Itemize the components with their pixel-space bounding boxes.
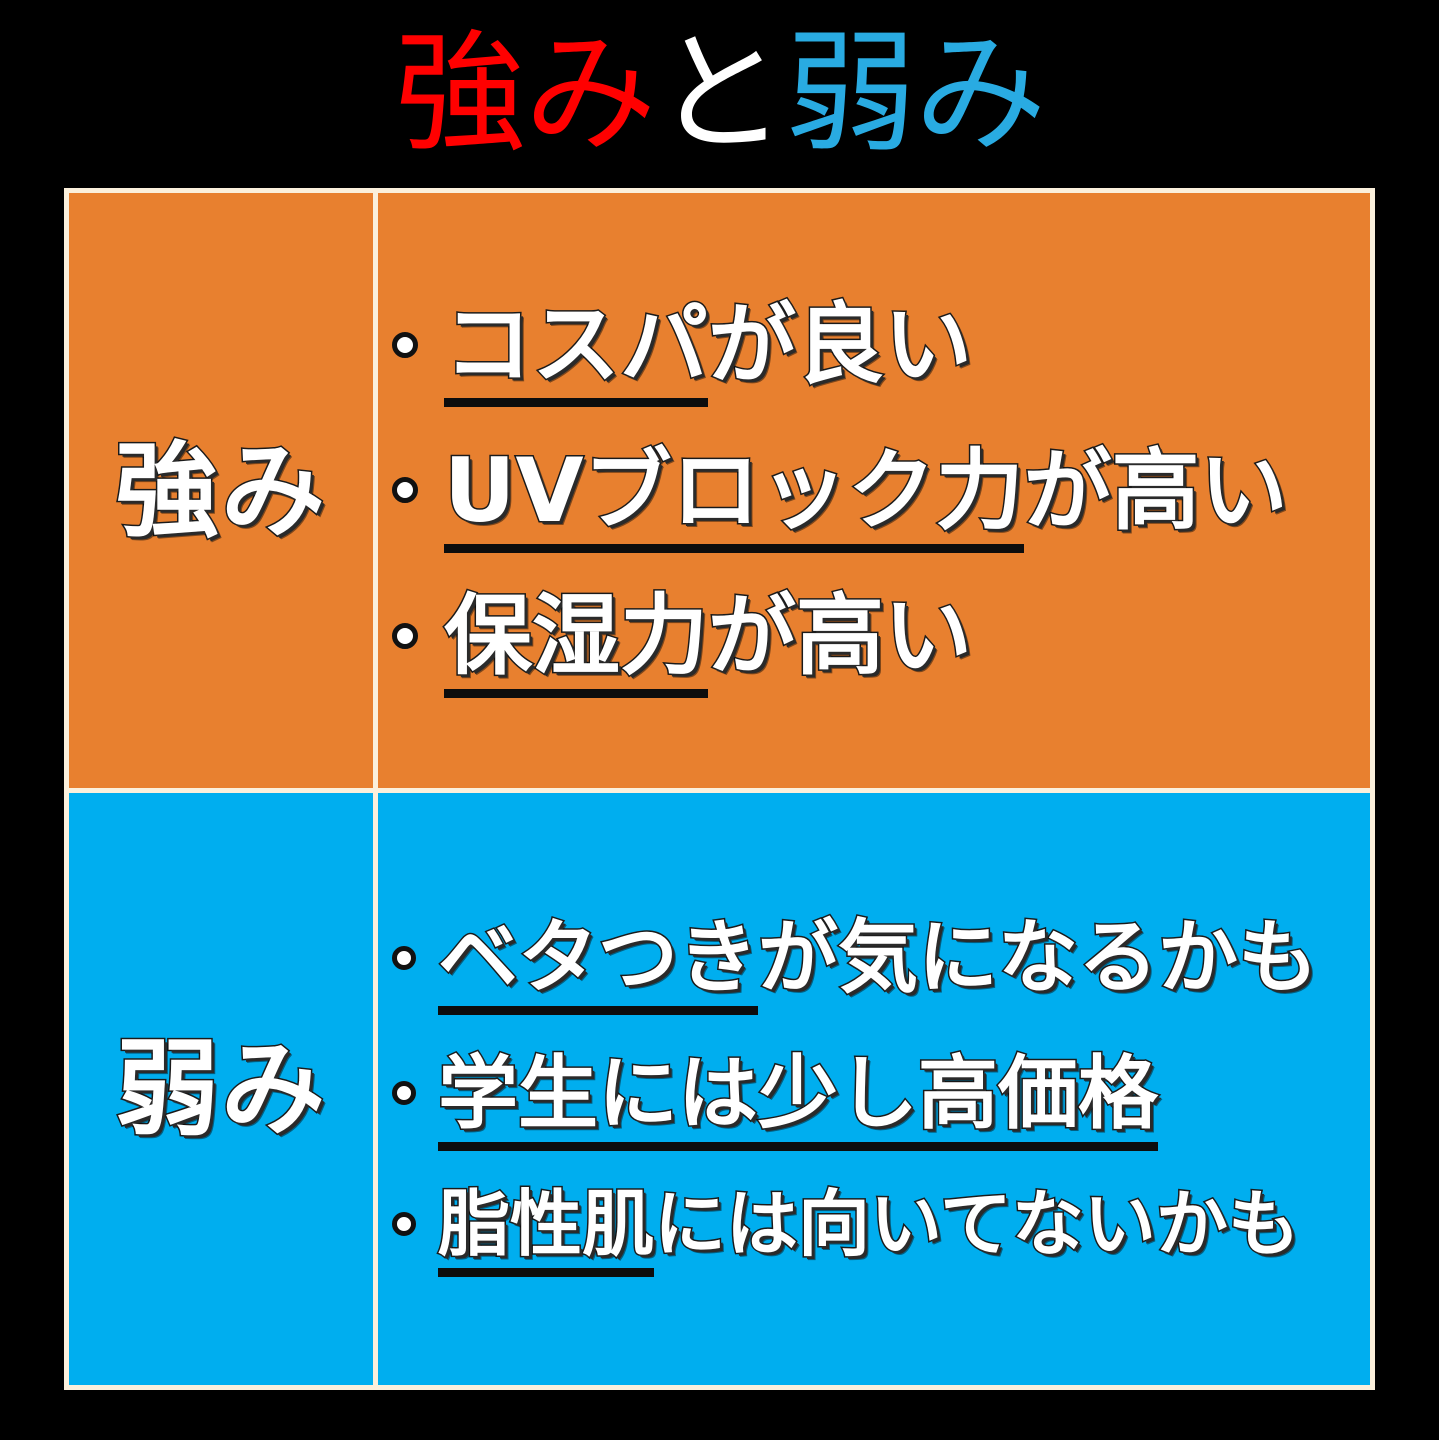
list-item-keyword: 学生には少し高価格 <box>438 1047 1158 1151</box>
table-row-weakness: 弱み ベタつきが気になるかも 学生には少し高価格 脂性肌には向いてないかも <box>69 793 1370 1385</box>
title-segment-conjunction: と <box>655 17 785 171</box>
list-item-text: ベタつきが気になるかも <box>438 916 1318 999</box>
list-item-rest: が高い <box>1024 439 1288 542</box>
list-item: 脂性肌には向いてないかも <box>392 1187 1370 1262</box>
table-row-strength: 強み コスパが良い UVブロック力が高い 保湿力が高い <box>69 193 1370 793</box>
list-item-rest: が気になるかも <box>758 911 1318 1004</box>
list-item: 保湿力が高い <box>392 590 1370 682</box>
list-item-text: 保湿力が高い <box>444 590 972 682</box>
list-item-keyword: ベタつき <box>438 911 758 1015</box>
list-item-keyword: UVブロック力 <box>444 439 1024 553</box>
title-segment-weakness: 弱み <box>785 17 1045 171</box>
strengths-weaknesses-table: 強み コスパが良い UVブロック力が高い 保湿力が高い 弱み ベ <box>64 188 1375 1390</box>
list-item-text: UVブロック力が高い <box>444 445 1288 537</box>
list-item-text: 脂性肌には向いてないかも <box>438 1187 1300 1262</box>
list-item-keyword: 脂性肌 <box>438 1182 654 1277</box>
page-title-text: 強みと弱み <box>395 28 1045 160</box>
list-item-rest: が高い <box>708 584 972 687</box>
row-label-cell-strength: 強み <box>69 193 378 788</box>
list-item-text: コスパが良い <box>444 299 972 391</box>
list-item-keyword: コスパ <box>444 293 708 407</box>
bullet-dot-icon <box>392 1212 416 1236</box>
list-item-rest: が良い <box>708 293 972 396</box>
bullet-dot-icon <box>392 946 416 970</box>
row-label-cell-weakness: 弱み <box>69 793 378 1385</box>
row-label-strength: 強み <box>115 439 327 543</box>
bullet-dot-icon <box>392 623 418 649</box>
row-items-cell-strength: コスパが良い UVブロック力が高い 保湿力が高い <box>378 193 1370 788</box>
list-item-keyword: 保湿力 <box>444 584 708 698</box>
list-item: コスパが良い <box>392 299 1370 391</box>
row-label-weakness: 弱み <box>115 1037 327 1141</box>
list-item-text: 学生には少し高価格 <box>438 1052 1158 1135</box>
title-segment-strength: 強み <box>395 17 655 171</box>
row-items-cell-weakness: ベタつきが気になるかも 学生には少し高価格 脂性肌には向いてないかも <box>378 793 1370 1385</box>
bullet-dot-icon <box>392 332 418 358</box>
list-item: 学生には少し高価格 <box>392 1052 1370 1135</box>
list-item: ベタつきが気になるかも <box>392 916 1370 999</box>
bullet-dot-icon <box>392 1081 416 1105</box>
list-item-rest: には向いてないかも <box>654 1182 1300 1266</box>
list-item: UVブロック力が高い <box>392 445 1370 537</box>
bullet-dot-icon <box>392 477 418 503</box>
page-title: 強みと弱み <box>0 14 1439 174</box>
